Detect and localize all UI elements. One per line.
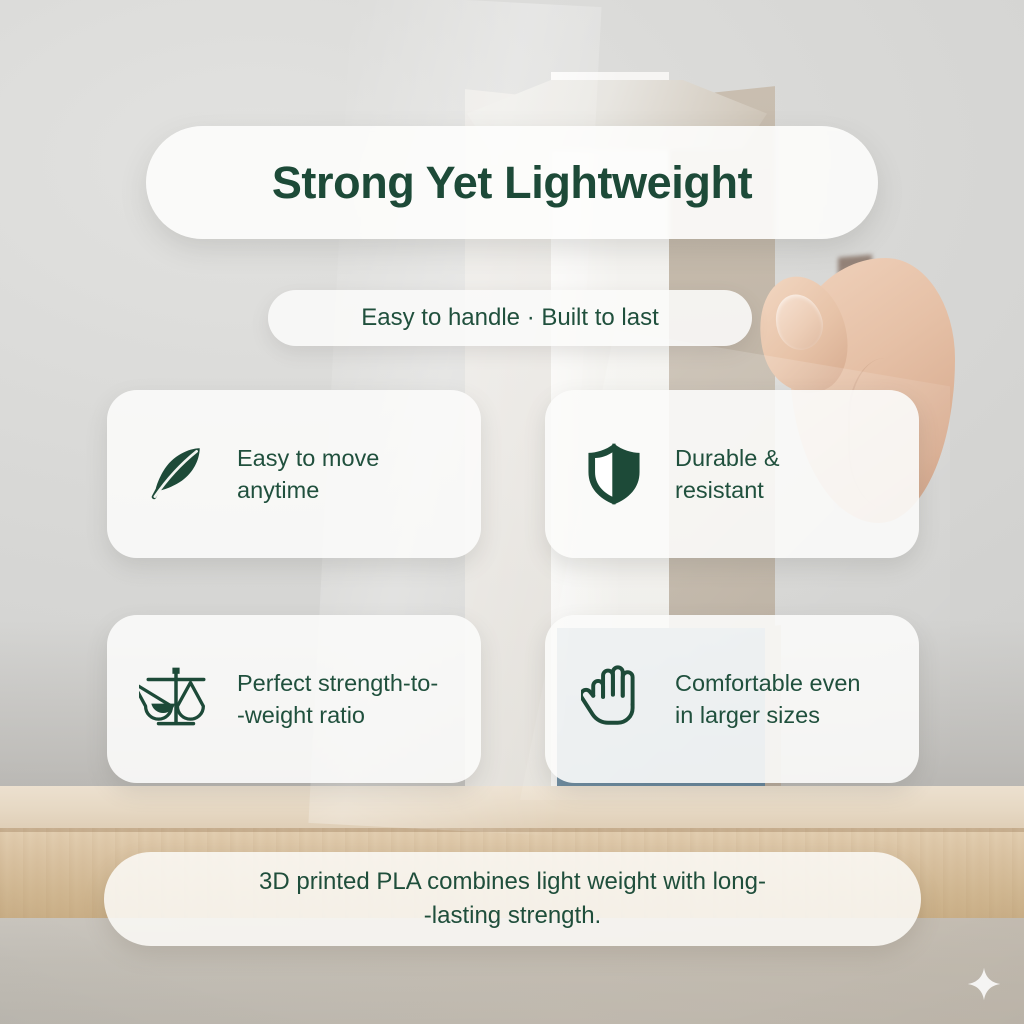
page-title: Strong Yet Lightweight [272,157,752,209]
feature-card-grid: Easy to move anytime Durable & resistant [107,390,919,790]
footer-line1: 3D printed PLA combines light weight wit… [259,865,766,899]
feature-card-easy-to-move[interactable]: Easy to move anytime [107,390,481,558]
feature-label-line2: in larger sizes [675,699,861,731]
feature-card-strength-ratio[interactable]: Perfect strength-to- -weight ratio [107,615,481,783]
page-subtitle: Easy to handle · Built to last [361,304,659,332]
title-pill: Strong Yet Lightweight [146,126,878,239]
feature-label-line1: Easy to move [237,442,379,474]
product-feature-card: Strong Yet Lightweight Easy to handle · … [0,0,1024,1024]
feature-label-line2: -weight ratio [237,699,438,731]
feature-card-label: Durable & resistant [675,442,780,507]
feature-label-line1: Durable & [675,442,780,474]
feature-card-label: Easy to move anytime [237,442,379,507]
feature-card-label: Perfect strength-to- -weight ratio [237,667,438,732]
subtitle-pill: Easy to handle · Built to last [268,290,752,346]
sparkle-icon [966,966,1002,1002]
footer-line2: -lasting strength. [259,899,766,933]
footer-pill: 3D printed PLA combines light weight wit… [104,852,921,946]
feature-card-label: Comfortable even in larger sizes [675,667,861,732]
open-hand-icon [577,662,651,736]
shield-icon [577,437,651,511]
feature-label-line1: Perfect strength-to- [237,667,438,699]
footer-caption: 3D printed PLA combines light weight wit… [259,865,766,933]
feature-label-line1: Comfortable even [675,667,861,699]
overlay-ui: Strong Yet Lightweight Easy to handle · … [0,0,1024,1024]
feather-icon [139,437,213,511]
feature-label-line2: anytime [237,474,379,506]
feature-card-comfortable[interactable]: Comfortable even in larger sizes [545,615,919,783]
balance-scale-icon [139,662,213,736]
feature-card-durable[interactable]: Durable & resistant [545,390,919,558]
feature-label-line2: resistant [675,474,780,506]
